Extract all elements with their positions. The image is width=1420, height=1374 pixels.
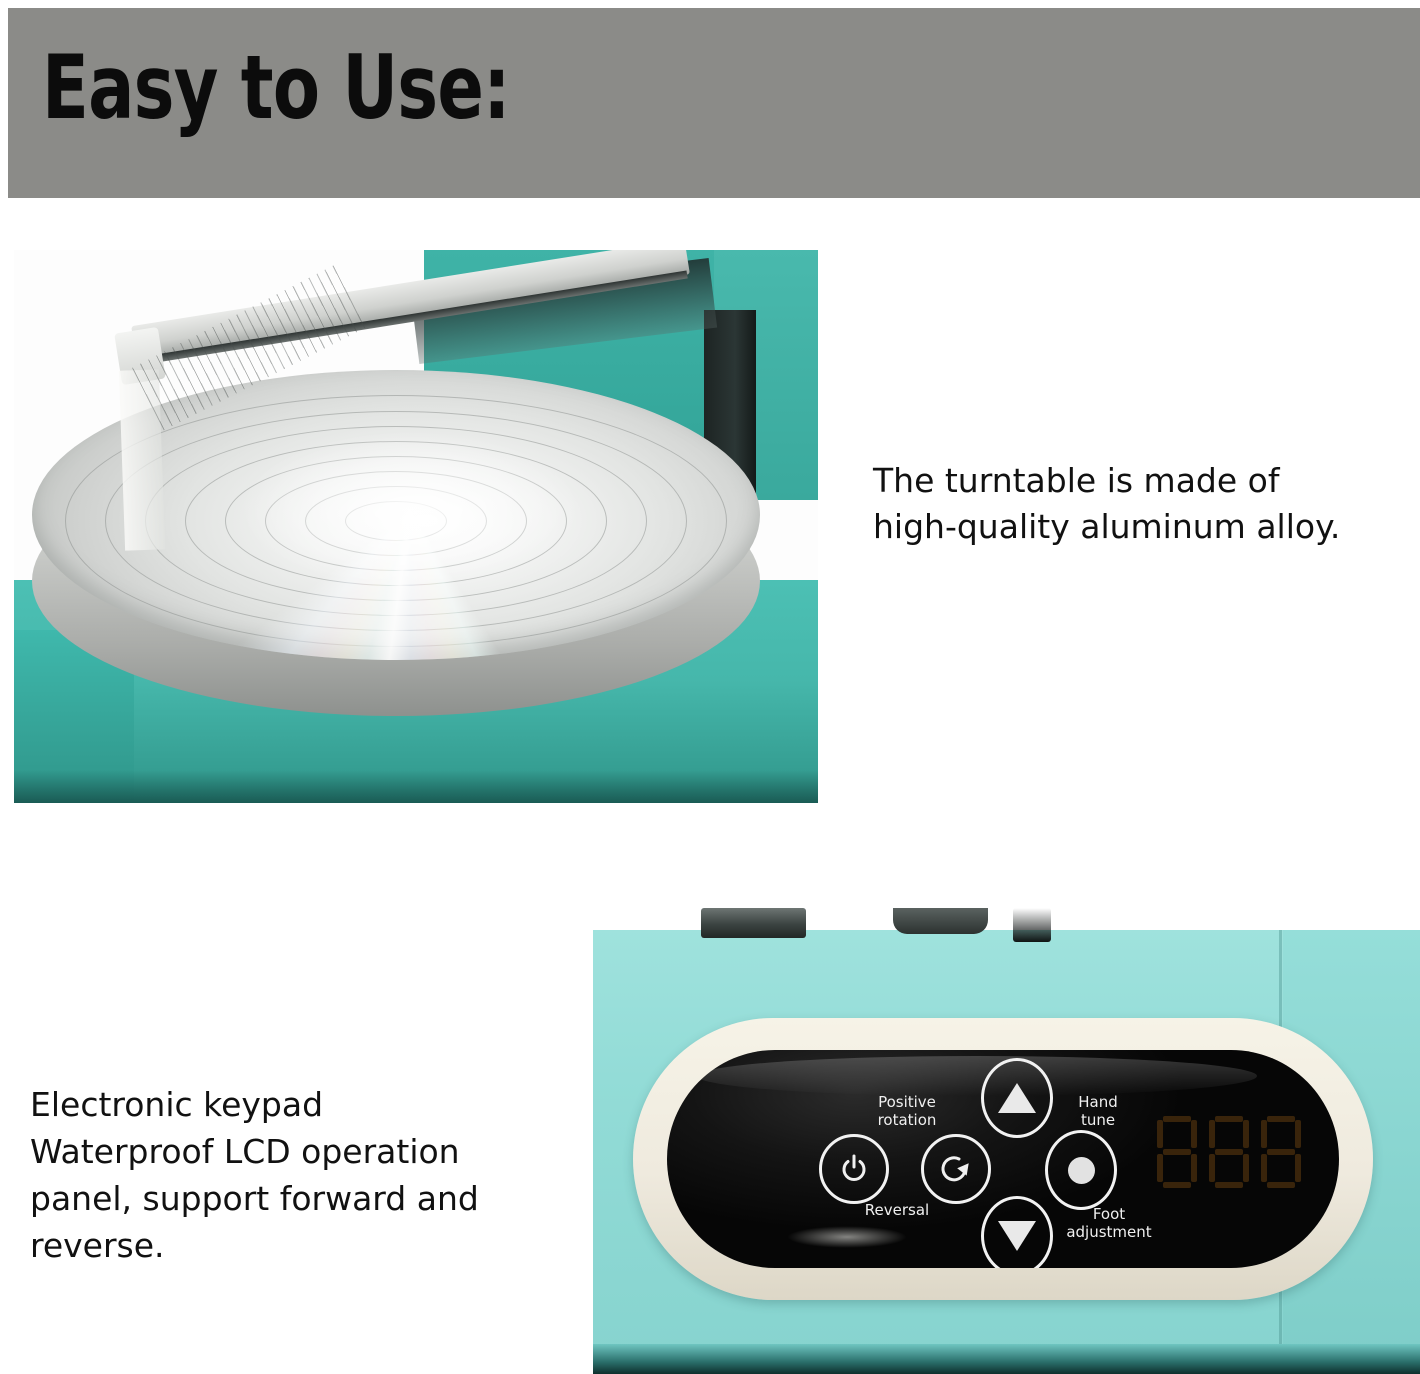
hand-tune-button[interactable] [1045,1130,1117,1210]
positive-rotation-up-button[interactable] [981,1058,1053,1138]
rotation-arrow-icon [939,1152,973,1186]
panel-smudge [787,1226,907,1248]
keypad-panel: Positive rotation Hand tune Reversal Foo… [667,1050,1339,1268]
hand-tune-label: Hand tune [1053,1094,1143,1129]
filled-dot-icon [1068,1157,1095,1184]
label-line: tune [1053,1112,1143,1130]
control-panel-photo: Positive rotation Hand tune Reversal Foo… [593,908,1420,1374]
label-line: Foot [1049,1206,1169,1224]
machine-knob [893,908,988,934]
foot-adjustment-down-button[interactable] [981,1196,1053,1268]
caption-line: The turntable is made of [873,458,1403,504]
panel-glare [697,1056,1257,1096]
triangle-down-icon [998,1221,1036,1251]
foot-adjustment-label: Foot adjustment [1049,1206,1169,1241]
triangle-up-icon [998,1083,1036,1113]
machine-post-dark [1013,908,1051,942]
led-digit [1157,1116,1197,1188]
led-digit [1261,1116,1301,1188]
machine-post [701,908,806,938]
infographic-page: Easy to Use: The turntab [0,0,1420,1374]
caption-line: reverse. [30,1223,575,1270]
power-button[interactable] [819,1134,889,1204]
label-line: rotation [853,1112,961,1130]
reversal-button[interactable] [921,1134,991,1204]
label-line: Hand [1053,1094,1143,1112]
positive-rotation-label: Positive rotation [853,1094,961,1129]
base-shadow [14,770,818,803]
power-icon [839,1154,869,1184]
turntable-caption: The turntable is made of high-quality al… [873,458,1403,549]
label-line: Positive [853,1094,961,1112]
caption-line: high-quality aluminum alloy. [873,504,1403,550]
page-title: Easy to Use: [42,44,510,132]
turntable-photo [14,250,818,803]
label-line: adjustment [1049,1224,1169,1242]
header-banner: Easy to Use: [8,8,1420,198]
reversal-label: Reversal [843,1202,951,1220]
caption-line: Waterproof LCD operation [30,1129,575,1176]
caption-line: Electronic keypad [30,1082,575,1129]
led-digit [1209,1116,1249,1188]
caption-line: panel, support forward and [30,1176,575,1223]
keypad-caption: Electronic keypad Waterproof LCD operati… [30,1082,575,1269]
machine-base-shadow [593,1344,1420,1374]
led-display [1157,1110,1317,1194]
